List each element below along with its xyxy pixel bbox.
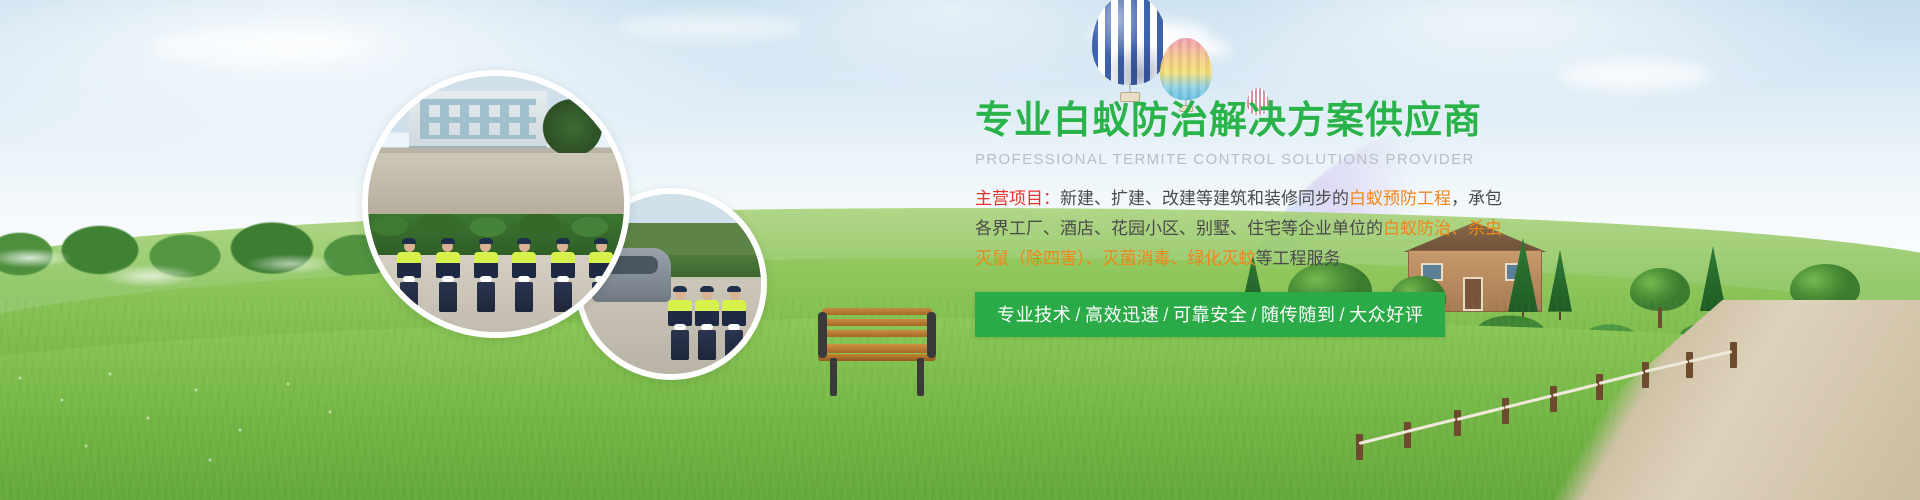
cta-separator: / [1247,305,1261,325]
cta-item-1: 专业技术 [997,305,1071,325]
cloud-icon [150,30,370,64]
cta-separator: / [1335,305,1349,325]
paragraph-line-1: 主营项目：新建、扩建、改建等建筑和装修同步的白蚁预防工程，承包 [975,184,1495,214]
park-bench-icon [818,308,936,398]
services-label: 主营项目 [975,189,1043,208]
line2-highlight: 白蚁防治、杀虫 [1383,219,1502,238]
hero-banner: 专业白蚁防治解决方案供应商 PROFESSIONAL TERMITE CONTR… [0,0,1920,500]
page-title: 专业白蚁防治解决方案供应商 [975,100,1495,144]
cloud-icon [620,14,800,40]
photo-collage [350,60,770,380]
hot-air-balloon-icon [1092,0,1168,102]
services-colon: ： [1043,189,1060,208]
line1-text-a: 新建、扩建、改建等建筑和装修同步的 [1060,189,1349,208]
cta-item-4: 随传随到 [1261,305,1335,325]
services-paragraph: 主营项目：新建、扩建、改建等建筑和装修同步的白蚁预防工程，承包 各界工厂、酒店、… [975,184,1495,274]
line1-text-b: ，承包 [1451,189,1502,208]
line2-text-a: 各界工厂、酒店、花园小区、别墅、住宅等企业单位的 [975,219,1383,238]
line3-highlight: 灭鼠（除四害）、灭菌消毒、绿化灭蚊 [975,249,1256,268]
cloud-icon [1560,60,1710,90]
paragraph-line-3: 灭鼠（除四害）、灭菌消毒、绿化灭蚊等工程服务 [975,244,1495,274]
team-photo-lineup [362,70,630,338]
page-subtitle: PROFESSIONAL TERMITE CONTROL SOLUTIONS P… [975,151,1495,168]
paragraph-line-2: 各界工厂、酒店、花园小区、别墅、住宅等企业单位的白蚁防治、杀虫 [975,214,1495,244]
cta-separator: / [1071,305,1085,325]
line1-highlight: 白蚁预防工程 [1349,189,1451,208]
line3-text-b: 等工程服务 [1256,249,1341,268]
cta-item-2: 高效迅速 [1085,305,1159,325]
banner-text-block: 专业白蚁防治解决方案供应商 PROFESSIONAL TERMITE CONTR… [975,100,1495,337]
wildflowers [0,360,360,480]
features-cta-bar[interactable]: 专业技术/高效迅速/可靠安全/随传随到/大众好评 [975,292,1445,337]
cta-item-3: 可靠安全 [1173,305,1247,325]
cta-item-5: 大众好评 [1349,305,1423,325]
cta-separator: / [1159,305,1173,325]
